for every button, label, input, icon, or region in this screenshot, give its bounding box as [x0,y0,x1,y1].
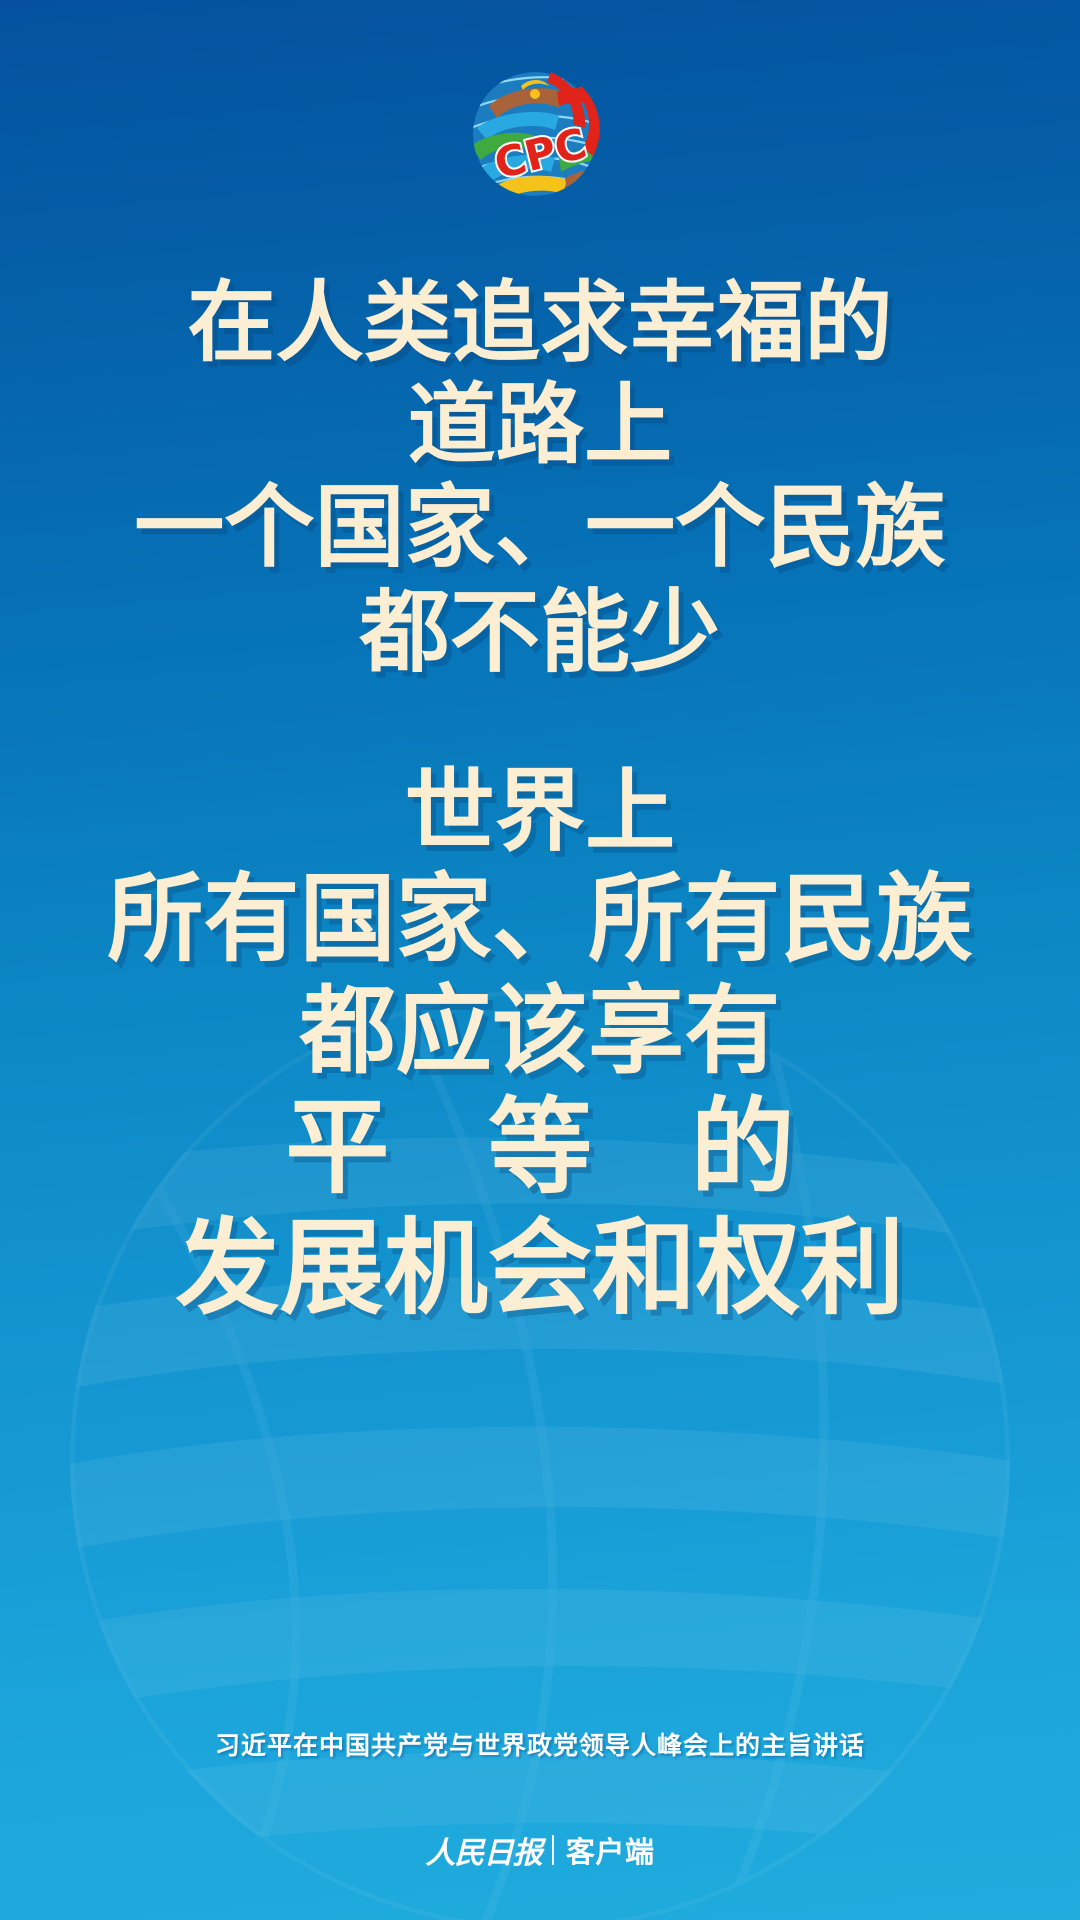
footer-brand: 人民日报 客户端 [0,1828,1080,1872]
headline-line-8: 平 等 的 [0,1087,1080,1208]
headline-line-4: 都不能少 [0,581,1080,685]
peoples-daily-wordmark: 人民日报 [425,1828,551,1872]
cpc-globe-logo: CPC [455,56,625,208]
brand-divider [552,1835,554,1865]
headline-line-7: 都应该享有 [0,976,1080,1087]
headline-block-2: 世界上 所有国家、所有民族 都应该享有 平 等 的 发展机会和权利 [0,760,1080,1328]
headline-line-9: 发展机会和权利 [0,1208,1080,1329]
headline-line-1: 在人类追求幸福的 [0,272,1080,374]
headline-block-1: 在人类追求幸福的 道路上 一个国家、一个民族 都不能少 [0,272,1080,685]
poster-root: CPC 在人类追求幸福的 道路上 一个国家、一个民族 都不能少 世界上 所有国家… [0,0,1080,1920]
attribution-text: 习近平在中国共产党与世界政党领导人峰会上的主旨讲话 [0,1726,1080,1762]
headline-line-3: 一个国家、一个民族 [0,476,1080,580]
app-label: 客户端 [554,1829,655,1871]
headline-line-5: 世界上 [0,760,1080,864]
headline-line-6: 所有国家、所有民族 [0,864,1080,975]
logo-container: CPC [0,56,1080,208]
headline-line-2: 道路上 [0,374,1080,476]
